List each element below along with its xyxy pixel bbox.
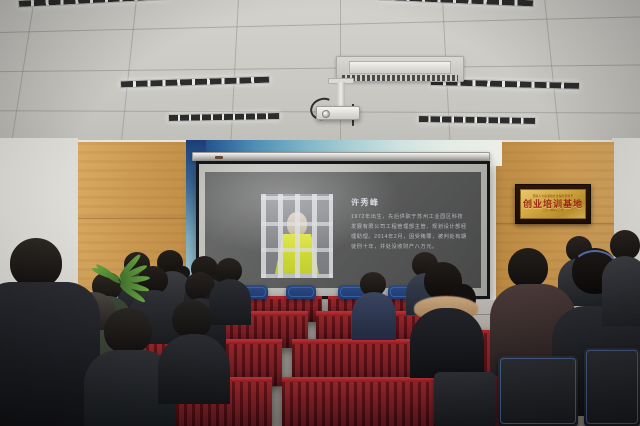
plaque-top-line: 国家人力资源和社会保障部授予 bbox=[533, 196, 574, 199]
screen-housing-label bbox=[215, 156, 223, 159]
conference-chair bbox=[498, 356, 578, 426]
projector-icon bbox=[316, 106, 360, 120]
projector-mount-pole bbox=[337, 82, 345, 108]
plaque-bottom-line: 二〇一四年十二月 bbox=[543, 210, 564, 212]
conference-chair bbox=[584, 348, 640, 426]
potted-plant bbox=[92, 268, 154, 320]
conference-chair bbox=[286, 285, 316, 299]
ceiling bbox=[0, 0, 640, 152]
projector-lens-icon bbox=[322, 110, 330, 118]
ceiling-tile-grid bbox=[0, 0, 640, 152]
slide-photo bbox=[261, 194, 333, 278]
conference-chair bbox=[434, 372, 496, 426]
slide-title: 许秀峰 bbox=[351, 197, 380, 208]
slide-photo-bars bbox=[261, 194, 333, 278]
plaque-main-text: 创业培训基地 bbox=[523, 200, 583, 209]
conference-room-photo: 国家人力资源和社会保障部授予 创业培训基地 二〇一四年十二月 许秀峰 1972年… bbox=[0, 0, 640, 426]
ceiling-air-vent bbox=[336, 56, 464, 82]
projector-screen-housing bbox=[192, 152, 490, 161]
slide-body-text: 1972年出生，先后供职于苏州工业园区科技发展有限公司工程管理部主管、规划设计部… bbox=[351, 212, 469, 252]
wall-plaque: 国家人力资源和社会保障部授予 创业培训基地 二〇一四年十二月 bbox=[515, 184, 591, 224]
